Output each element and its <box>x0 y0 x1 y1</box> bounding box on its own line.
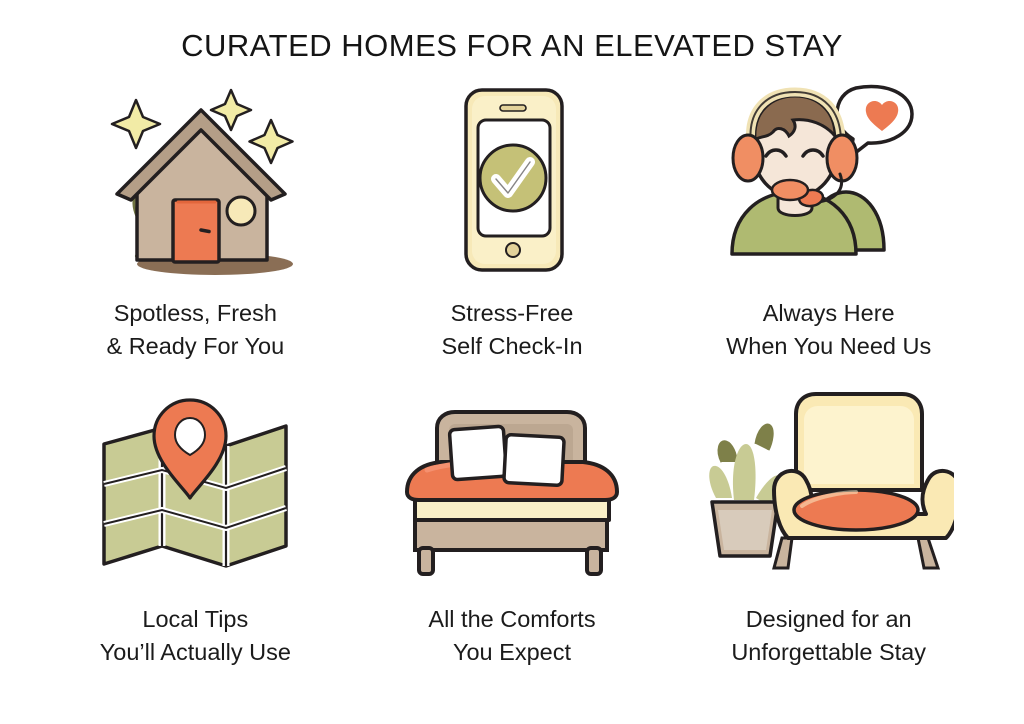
feature-caption: Stress-Free Self Check-In <box>441 297 582 364</box>
feature-caption: Spotless, Fresh & Ready For You <box>106 297 284 364</box>
armchair-plant-icon <box>699 388 959 583</box>
caption-line-2: Unforgettable Stay <box>731 636 926 669</box>
caption-line-1: All the Comforts <box>428 606 595 632</box>
caption-line-1: Designed for an <box>746 606 912 632</box>
infographic-page: CURATED HOMES FOR AN ELEVATED STAY <box>0 0 1024 724</box>
feature-card-local-tips: Local Tips You’ll Actually Use <box>37 388 354 698</box>
feature-grid: Spotless, Fresh & Ready For You St <box>37 78 987 698</box>
page-title: CURATED HOMES FOR AN ELEVATED STAY <box>0 0 1024 64</box>
caption-line-1: Stress-Free <box>451 300 574 326</box>
feature-card-self-check-in: Stress-Free Self Check-In <box>354 78 671 388</box>
caption-line-2: You Expect <box>428 636 595 669</box>
feature-card-all-comforts: All the Comforts You Expect <box>354 388 671 698</box>
feature-card-spotless-fresh: Spotless, Fresh & Ready For You <box>37 78 354 388</box>
bed-pillows-icon <box>382 388 642 583</box>
feature-caption: Always Here When You Need Us <box>726 297 931 364</box>
feature-card-unforgettable-stay: Designed for an Unforgettable Stay <box>670 388 987 698</box>
support-agent-headset-icon <box>699 78 959 283</box>
caption-line-1: Local Tips <box>142 606 248 632</box>
caption-line-1: Always Here <box>763 300 895 326</box>
caption-line-2: When You Need Us <box>726 330 931 363</box>
feature-caption: All the Comforts You Expect <box>428 603 595 670</box>
feature-caption: Local Tips You’ll Actually Use <box>100 603 291 670</box>
caption-line-2: & Ready For You <box>106 330 284 363</box>
house-sparkle-icon <box>65 78 325 283</box>
feature-card-always-here: Always Here When You Need Us <box>670 78 987 388</box>
folded-map-pin-icon <box>65 388 325 583</box>
caption-line-2: Self Check-In <box>441 330 582 363</box>
phone-checkmark-icon <box>382 78 642 283</box>
caption-line-2: You’ll Actually Use <box>100 636 291 669</box>
feature-caption: Designed for an Unforgettable Stay <box>731 603 926 670</box>
caption-line-1: Spotless, Fresh <box>114 300 277 326</box>
